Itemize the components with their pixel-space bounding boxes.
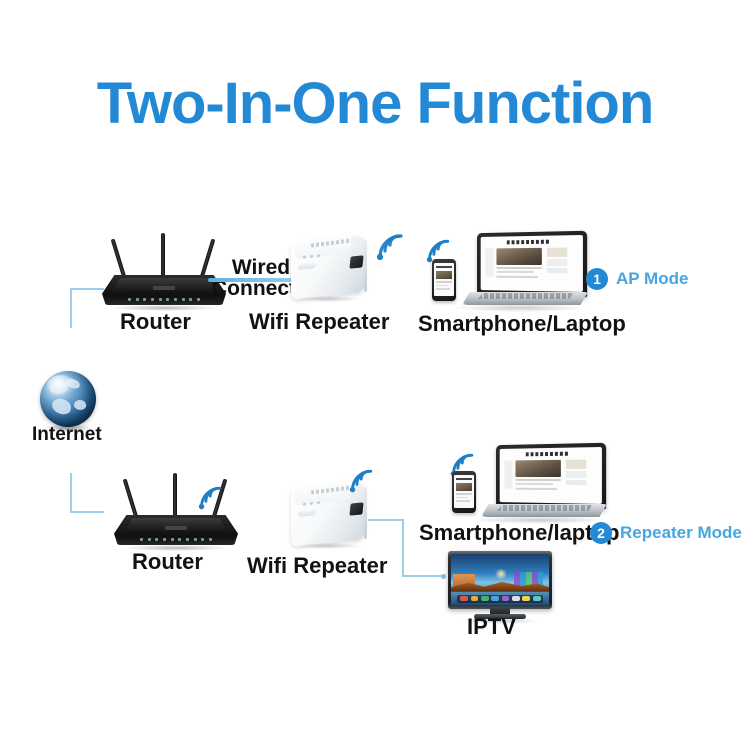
repeater-ethernet-port bbox=[349, 502, 363, 515]
router-led-strip bbox=[140, 538, 212, 542]
globe-sphere bbox=[40, 371, 96, 427]
iptv-television-icon bbox=[448, 551, 552, 621]
ap-repeater-label: Wifi Repeater bbox=[249, 310, 389, 333]
tv-app-dock bbox=[457, 595, 543, 603]
repeater-side-edge bbox=[364, 487, 367, 539]
repeater-ethernet-port bbox=[349, 255, 363, 268]
smartphone-screen bbox=[454, 475, 474, 508]
ap-mode-label: AP Mode bbox=[616, 269, 688, 289]
laptop-lid bbox=[477, 231, 587, 298]
connector-internet-to-ap-router-vertical bbox=[70, 288, 72, 328]
ap-mode-badge: 1 AP Mode bbox=[586, 268, 688, 290]
connector-repeater-to-iptv-horizontal-2 bbox=[402, 575, 444, 577]
page-title: Two-In-One Function bbox=[0, 74, 750, 134]
laptop-screen bbox=[500, 447, 602, 504]
iptv-label: IPTV bbox=[467, 615, 516, 638]
repeater-mode-smartphone-icon bbox=[452, 471, 476, 513]
ap-wifi-repeater-icon bbox=[285, 228, 377, 302]
repeater-mode-router-label: Router bbox=[132, 550, 203, 573]
laptop-keyboard bbox=[478, 293, 574, 299]
repeater-mode-laptop-icon bbox=[467, 444, 607, 526]
laptop-screen bbox=[481, 235, 583, 292]
ap-smartphone-icon bbox=[432, 259, 456, 301]
router-brand-logo bbox=[153, 286, 175, 290]
router-led-strip bbox=[128, 298, 200, 302]
laptop-keyboard bbox=[497, 505, 593, 511]
repeater-shadow bbox=[297, 543, 361, 549]
connector-repeater-to-iptv-vertical bbox=[402, 519, 404, 577]
repeater-mode-repeater-label: Wifi Repeater bbox=[247, 554, 387, 577]
connector-endpoint-dot bbox=[441, 574, 446, 579]
repeater-mode-number: 2 bbox=[590, 522, 612, 544]
tv-frame bbox=[448, 551, 552, 609]
repeater-mode-label: Repeater Mode bbox=[620, 523, 742, 543]
connector-internet-to-repeater-router-horizontal bbox=[70, 511, 104, 513]
tv-screen bbox=[451, 554, 549, 605]
wifi-signal-icon-repeater-uplink bbox=[347, 466, 379, 494]
router-brand-logo bbox=[165, 526, 187, 530]
laptop-lid bbox=[496, 443, 606, 510]
ap-laptop-icon bbox=[448, 232, 588, 314]
ap-mode-number: 1 bbox=[586, 268, 608, 290]
repeater-mode-badge: 2 Repeater Mode bbox=[590, 522, 742, 544]
ap-client-label: Smartphone/Laptop bbox=[418, 312, 626, 335]
connector-repeater-to-iptv-horizontal-1 bbox=[368, 519, 404, 521]
wifi-signal-icon-ap-repeater bbox=[374, 230, 410, 262]
ap-router-label: Router bbox=[120, 310, 191, 333]
repeater-shadow bbox=[297, 296, 361, 302]
infographic-canvas: Two-In-One Function Router Wired Connect… bbox=[0, 0, 750, 750]
ap-router-icon bbox=[98, 233, 230, 311]
smartphone-screen bbox=[434, 263, 454, 296]
connector-internet-to-repeater-router-vertical bbox=[70, 473, 72, 513]
repeater-side-edge bbox=[364, 240, 367, 292]
wifi-signal-icon-router-to-repeater bbox=[196, 483, 228, 511]
internet-label: Internet bbox=[32, 425, 102, 445]
internet-globe-icon bbox=[40, 371, 96, 427]
